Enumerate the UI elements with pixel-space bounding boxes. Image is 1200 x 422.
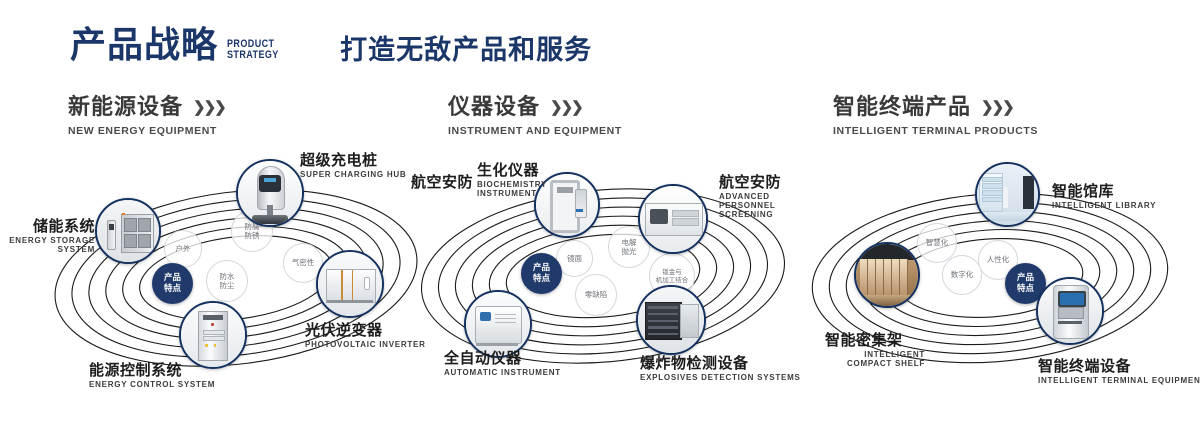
- photovoltaic-inverter-icon: [318, 252, 382, 316]
- feature-bubble: 零缺陷: [575, 274, 617, 316]
- caption-energy-control-system: 能源控制系统 ENERGY CONTROL SYSTEM: [89, 362, 215, 390]
- caption-cn: 智能馆库: [1052, 183, 1156, 200]
- caption-cn: 储能系统: [0, 218, 95, 235]
- caption-explosives-detection-systems: 爆炸物检测设备 EXPLOSIVES DETECTION SYSTEMS: [640, 355, 801, 383]
- section-title-cn: 新能源设备: [68, 96, 183, 120]
- page-title-en-line1: PRODUCT: [227, 39, 279, 51]
- bubble-line1: 户外: [176, 244, 191, 253]
- energy-storage-cabinet-icon: [97, 200, 159, 262]
- section-title-en: INTELLIGENT TERMINAL PRODUCTS: [833, 125, 1038, 137]
- section-title-en: INSTRUMENT AND EQUIPMENT: [448, 125, 622, 137]
- caption-en: AUTOMATIC INSTRUMENT: [444, 369, 561, 378]
- caption-intelligent-compact-shelf: 智能密集架 INTELLIGENT COMPACT SHELF: [825, 332, 925, 369]
- caption-cn: 超级充电桩: [300, 152, 406, 169]
- caption-cn: 能源控制系统: [89, 362, 215, 379]
- chevron-right-icon: ❯❯❯: [550, 100, 582, 117]
- bubble-line1: 钣金与: [662, 268, 682, 276]
- bubble-line1: 人性化: [987, 255, 1010, 264]
- node-photovoltaic-inverter[interactable]: [316, 250, 384, 318]
- bubble-line1: 镜面: [567, 254, 582, 263]
- bubble-line1: 防水: [220, 272, 235, 281]
- node-intelligent-library[interactable]: [975, 162, 1040, 227]
- bubble-line1: 气密性: [292, 258, 315, 267]
- caption-cn: 全自动仪器: [444, 350, 561, 367]
- section-title-intelligent-terminal: 智能终端产品 ❯❯❯ INTELLIGENT TERMINAL PRODUCTS: [833, 96, 1038, 137]
- caption-biochemistry-instrument: 生化仪器 BIOCHEMISTRY INSTRUMENT: [477, 162, 559, 199]
- bubble-line1: 数字化: [951, 270, 974, 279]
- terminal-kiosk-icon: [1038, 279, 1102, 343]
- caption-intelligent-library: 智能馆库 INTELLIGENT LIBRARY: [1052, 183, 1156, 211]
- feature-bubble: 防水 防尘: [206, 260, 248, 302]
- bubble-line2: 抛光: [622, 247, 637, 256]
- caption-en: INTELLIGENT TERMINAL EQUIPMENT: [1038, 377, 1200, 386]
- caption-en: BIOCHEMISTRY INSTRUMENT: [477, 181, 559, 199]
- node-advanced-personnel-screening[interactable]: [638, 184, 708, 254]
- chevron-right-icon: ❯❯❯: [981, 100, 1013, 117]
- page-title: 产品战略: [70, 28, 218, 64]
- caption-cn: 光伏逆变器: [305, 322, 426, 339]
- page-subtitle: 打造无敌产品和服务: [340, 37, 592, 64]
- node-energy-control-system[interactable]: [179, 301, 247, 369]
- explosives-detector-icon: [638, 287, 704, 353]
- caption-aviation-security-left: 航空安防: [411, 174, 473, 191]
- feature-bubble: 数字化: [942, 255, 982, 295]
- caption-en: EXPLOSIVES DETECTION SYSTEMS: [640, 374, 801, 383]
- page-title-en-line2: STRATEGY: [227, 50, 279, 62]
- automatic-instrument-icon: [466, 292, 530, 356]
- center-bubble-product-features: 产品 特点: [152, 263, 193, 304]
- bubble-line1: 智慧化: [926, 238, 949, 247]
- section-title-new-energy: 新能源设备 ❯❯❯ NEW ENERGY EQUIPMENT: [68, 96, 225, 137]
- caption-cn: 智能密集架: [825, 332, 925, 349]
- bubble-line2: 特点: [1017, 284, 1034, 295]
- caption-intelligent-terminal-equipment: 智能终端设备 INTELLIGENT TERMINAL EQUIPMENT: [1038, 358, 1200, 386]
- caption-energy-storage-system: 储能系统 ENERGY STORAGE SYSTEM: [0, 218, 95, 255]
- node-intelligent-compact-shelf[interactable]: [854, 242, 920, 308]
- node-energy-storage-system[interactable]: [95, 198, 161, 264]
- compact-shelf-icon: [856, 244, 918, 306]
- chevron-right-icon: ❯❯❯: [193, 100, 225, 117]
- caption-en: ENERGY CONTROL SYSTEM: [89, 381, 215, 390]
- caption-en: SUPER CHARGING HUB: [300, 171, 406, 180]
- bubble-line1: 电解: [622, 238, 637, 247]
- bubble-line1: 产品: [1017, 273, 1034, 284]
- bubble-line2: 特点: [164, 284, 181, 295]
- intelligent-library-icon: [977, 164, 1038, 225]
- page-header: 产品战略 PRODUCT STRATEGY 打造无敌产品和服务: [70, 28, 592, 64]
- product-strategy-infographic: 产品战略 PRODUCT STRATEGY 打造无敌产品和服务 新能源设备 ❯❯…: [0, 0, 1200, 422]
- center-bubble-product-features: 产品 特点: [521, 253, 562, 294]
- lab-analyzer-icon: [640, 186, 706, 252]
- caption-en: ENERGY STORAGE SYSTEM: [0, 237, 95, 255]
- section-title-cn: 智能终端产品: [833, 96, 971, 120]
- node-explosives-detection-systems[interactable]: [636, 285, 706, 355]
- bubble-line1: 零缺陷: [585, 290, 608, 299]
- section-title-en: NEW ENERGY EQUIPMENT: [68, 125, 225, 137]
- page-title-en: PRODUCT STRATEGY: [227, 39, 279, 62]
- energy-control-cabinet-icon: [181, 303, 245, 367]
- section-title-cn: 仪器设备: [448, 96, 540, 120]
- caption-photovoltaic-inverter: 光伏逆变器 PHOTOVOLTAIC INVERTER: [305, 322, 426, 350]
- caption-en: INTELLIGENT LIBRARY: [1052, 202, 1156, 211]
- bubble-line2: 特点: [533, 274, 550, 285]
- node-super-charging-hub[interactable]: [236, 159, 304, 227]
- bubble-line2: 防锈: [245, 231, 260, 240]
- section-title-instrument: 仪器设备 ❯❯❯ INSTRUMENT AND EQUIPMENT: [448, 96, 622, 137]
- bubble-line1: 产品: [164, 273, 181, 284]
- caption-cn: 生化仪器: [477, 162, 559, 179]
- node-intelligent-terminal-equipment[interactable]: [1036, 277, 1104, 345]
- bubble-line2: 防尘: [220, 281, 235, 290]
- bubble-line1: 产品: [533, 263, 550, 274]
- caption-en: PHOTOVOLTAIC INVERTER: [305, 341, 426, 350]
- bubble-line2: 机加工结合: [656, 276, 689, 284]
- caption-cn: 智能终端设备: [1038, 358, 1200, 375]
- caption-automatic-instrument: 全自动仪器 AUTOMATIC INSTRUMENT: [444, 350, 561, 378]
- caption-en: INTELLIGENT COMPACT SHELF: [825, 351, 925, 369]
- node-automatic-instrument[interactable]: [464, 290, 532, 358]
- caption-super-charging-hub: 超级充电桩 SUPER CHARGING HUB: [300, 152, 406, 180]
- charging-hub-icon: [238, 161, 302, 225]
- caption-cn: 航空安防: [411, 174, 473, 191]
- caption-cn: 爆炸物检测设备: [640, 355, 801, 372]
